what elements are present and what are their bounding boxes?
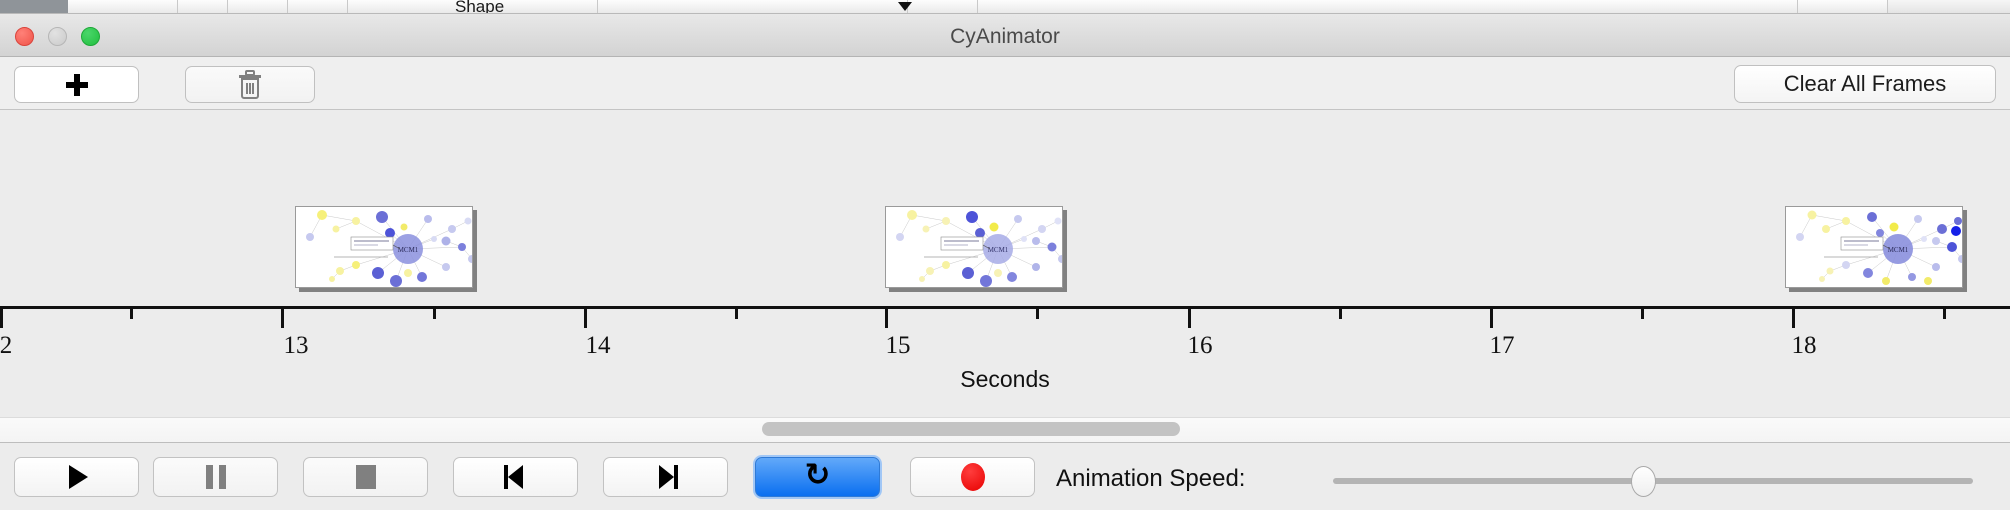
background-sort-arrow-icon <box>898 2 912 11</box>
timeline-scrollbar-thumb[interactable] <box>762 422 1180 436</box>
skip-to-start-icon <box>504 465 528 489</box>
timeline-axis <box>0 306 2010 309</box>
skip-to-end-icon <box>654 465 678 489</box>
record-button[interactable] <box>910 457 1035 497</box>
background-cell <box>178 0 228 14</box>
frame-thumbnail[interactable]: MCM1 <box>295 206 473 288</box>
axis-tick-major <box>1188 309 1191 328</box>
axis-tick-major <box>885 309 888 328</box>
network-graph-preview: MCM1 <box>886 207 1063 288</box>
background-cell <box>1798 0 1888 14</box>
svg-text:MCM1: MCM1 <box>988 246 1009 254</box>
axis-tick-minor <box>1641 309 1644 319</box>
record-icon <box>961 463 985 491</box>
axis-tick-minor <box>1943 309 1946 319</box>
background-cell <box>348 0 468 14</box>
window-title: CyAnimator <box>0 25 2010 49</box>
frame-toolbar: Clear All Frames <box>0 57 2010 110</box>
clear-all-frames-label: Clear All Frames <box>1784 71 1947 97</box>
background-cell <box>288 0 348 14</box>
stop-icon <box>356 465 376 489</box>
playback-control-bar: ↻ Animation Speed: <box>0 443 2010 510</box>
axis-tick-minor <box>735 309 738 319</box>
axis-label: 18 <box>1792 332 1817 360</box>
axis-tick-major <box>281 309 284 328</box>
delete-frame-button[interactable] <box>185 66 315 103</box>
plus-icon <box>66 74 88 96</box>
axis-label: 14 <box>586 332 611 360</box>
axis-tick-major <box>584 309 587 328</box>
background-window-sidebar <box>0 0 68 14</box>
background-cell <box>598 0 908 14</box>
loop-button[interactable]: ↻ <box>755 457 880 497</box>
svg-text:MCM1: MCM1 <box>398 246 419 254</box>
first-frame-button[interactable] <box>453 457 578 497</box>
background-cell <box>68 0 178 14</box>
background-cell <box>978 0 1798 14</box>
axis-tick-minor <box>130 309 133 319</box>
axis-tick-major <box>1490 309 1493 328</box>
axis-tick-minor <box>1036 309 1039 319</box>
axis-tick-major <box>1792 309 1795 328</box>
axis-label: 16 <box>1188 332 1213 360</box>
timeline-panel[interactable]: MCM1 <box>0 110 2010 417</box>
background-cell <box>908 0 978 14</box>
clear-all-frames-button[interactable]: Clear All Frames <box>1734 65 1996 103</box>
axis-label: 2 <box>0 332 12 360</box>
network-graph-preview: MCM1 <box>1786 207 1963 288</box>
axis-tick-major <box>0 309 3 328</box>
loop-icon: ↻ <box>805 460 831 491</box>
play-button[interactable] <box>14 457 139 497</box>
axis-tick-minor <box>433 309 436 319</box>
background-window-strip: Shape <box>0 0 2010 14</box>
axis-label: 13 <box>284 332 309 360</box>
axis-label: 17 <box>1490 332 1515 360</box>
network-graph-preview: MCM1 <box>296 207 473 288</box>
pause-icon <box>206 465 226 489</box>
trash-icon <box>237 70 263 100</box>
frame-thumbnail[interactable]: MCM1 <box>1785 206 1963 288</box>
background-window-label: Shape <box>455 0 504 14</box>
window-titlebar: CyAnimator <box>0 14 2010 57</box>
stop-button[interactable] <box>303 457 428 497</box>
axis-label: 15 <box>886 332 911 360</box>
frame-thumbnail[interactable]: MCM1 <box>885 206 1063 288</box>
animation-speed-slider-thumb[interactable] <box>1631 466 1656 497</box>
axis-tick-minor <box>1339 309 1342 319</box>
last-frame-button[interactable] <box>603 457 728 497</box>
pause-button[interactable] <box>153 457 278 497</box>
play-icon <box>69 465 88 489</box>
axis-title: Seconds <box>0 366 2010 393</box>
background-cell <box>228 0 288 14</box>
animation-speed-label: Animation Speed: <box>1056 465 1245 493</box>
svg-text:MCM1: MCM1 <box>1888 246 1909 254</box>
add-frame-button[interactable] <box>14 66 139 103</box>
